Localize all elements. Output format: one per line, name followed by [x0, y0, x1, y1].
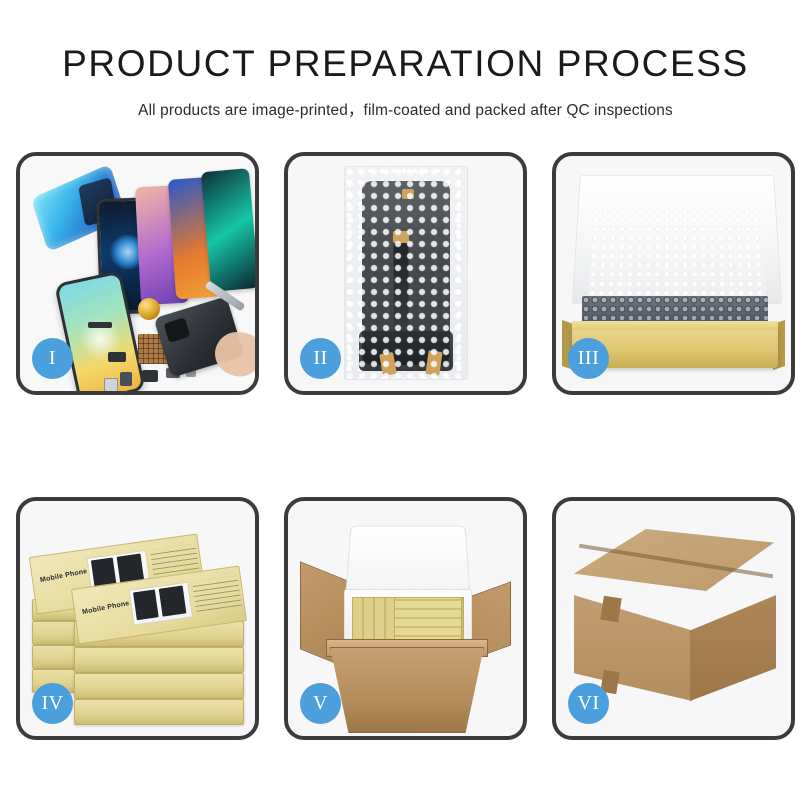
connector-icon	[425, 350, 442, 376]
foam-box-lid-icon	[345, 526, 471, 598]
step-badge-6: VI	[568, 683, 609, 724]
lid-foam-icon	[588, 208, 767, 303]
step-badge-5: V	[300, 683, 341, 724]
page-header: PRODUCT PREPARATION PROCESS All products…	[0, 0, 811, 120]
box-window-chip	[133, 589, 159, 620]
carton-front-face	[574, 575, 692, 701]
small-part-icon	[142, 370, 158, 382]
retail-box-body	[74, 699, 244, 725]
process-step-panel-2[interactable]: II	[284, 152, 527, 395]
step-badge-1: I	[32, 338, 73, 379]
step-badge-4: IV	[32, 683, 73, 724]
small-part-icon	[108, 352, 126, 362]
process-step-panel-6[interactable]: VI	[552, 497, 795, 740]
process-step-panel-1[interactable]: I	[16, 152, 259, 395]
small-part-icon	[88, 322, 112, 328]
carton-side-face	[690, 575, 776, 701]
step-badge-2: II	[300, 338, 341, 379]
carton-tape-patch	[600, 596, 622, 623]
retail-box-body	[74, 647, 244, 673]
box-spec-lines	[192, 576, 242, 612]
copper-coil-icon	[138, 298, 160, 320]
box-window-chip	[159, 586, 187, 617]
box-lid-icon	[572, 175, 782, 304]
carton-body-icon	[330, 647, 484, 733]
small-part-icon	[120, 372, 132, 386]
process-step-panel-3[interactable]: III	[552, 152, 795, 395]
process-step-grid: I II III	[16, 152, 795, 740]
small-part-icon	[104, 378, 118, 391]
page-title: PRODUCT PREPARATION PROCESS	[0, 44, 811, 85]
connector-icon	[379, 352, 397, 376]
process-step-panel-4[interactable]: Mobile Phone Spare Parts Mobile Phone Sp…	[16, 497, 259, 740]
phone-display-teal-icon	[201, 168, 255, 292]
connector-icon	[402, 189, 414, 199]
step-badge-3: III	[568, 338, 609, 379]
connector-icon	[393, 231, 409, 243]
process-step-panel-5[interactable]: V	[284, 497, 527, 740]
yellow-packs-right	[394, 597, 462, 645]
retail-box-body	[74, 673, 244, 699]
page-subtitle: All products are image-printed，film-coat…	[0, 98, 811, 120]
bubble-wrap-bag-icon	[344, 166, 468, 380]
